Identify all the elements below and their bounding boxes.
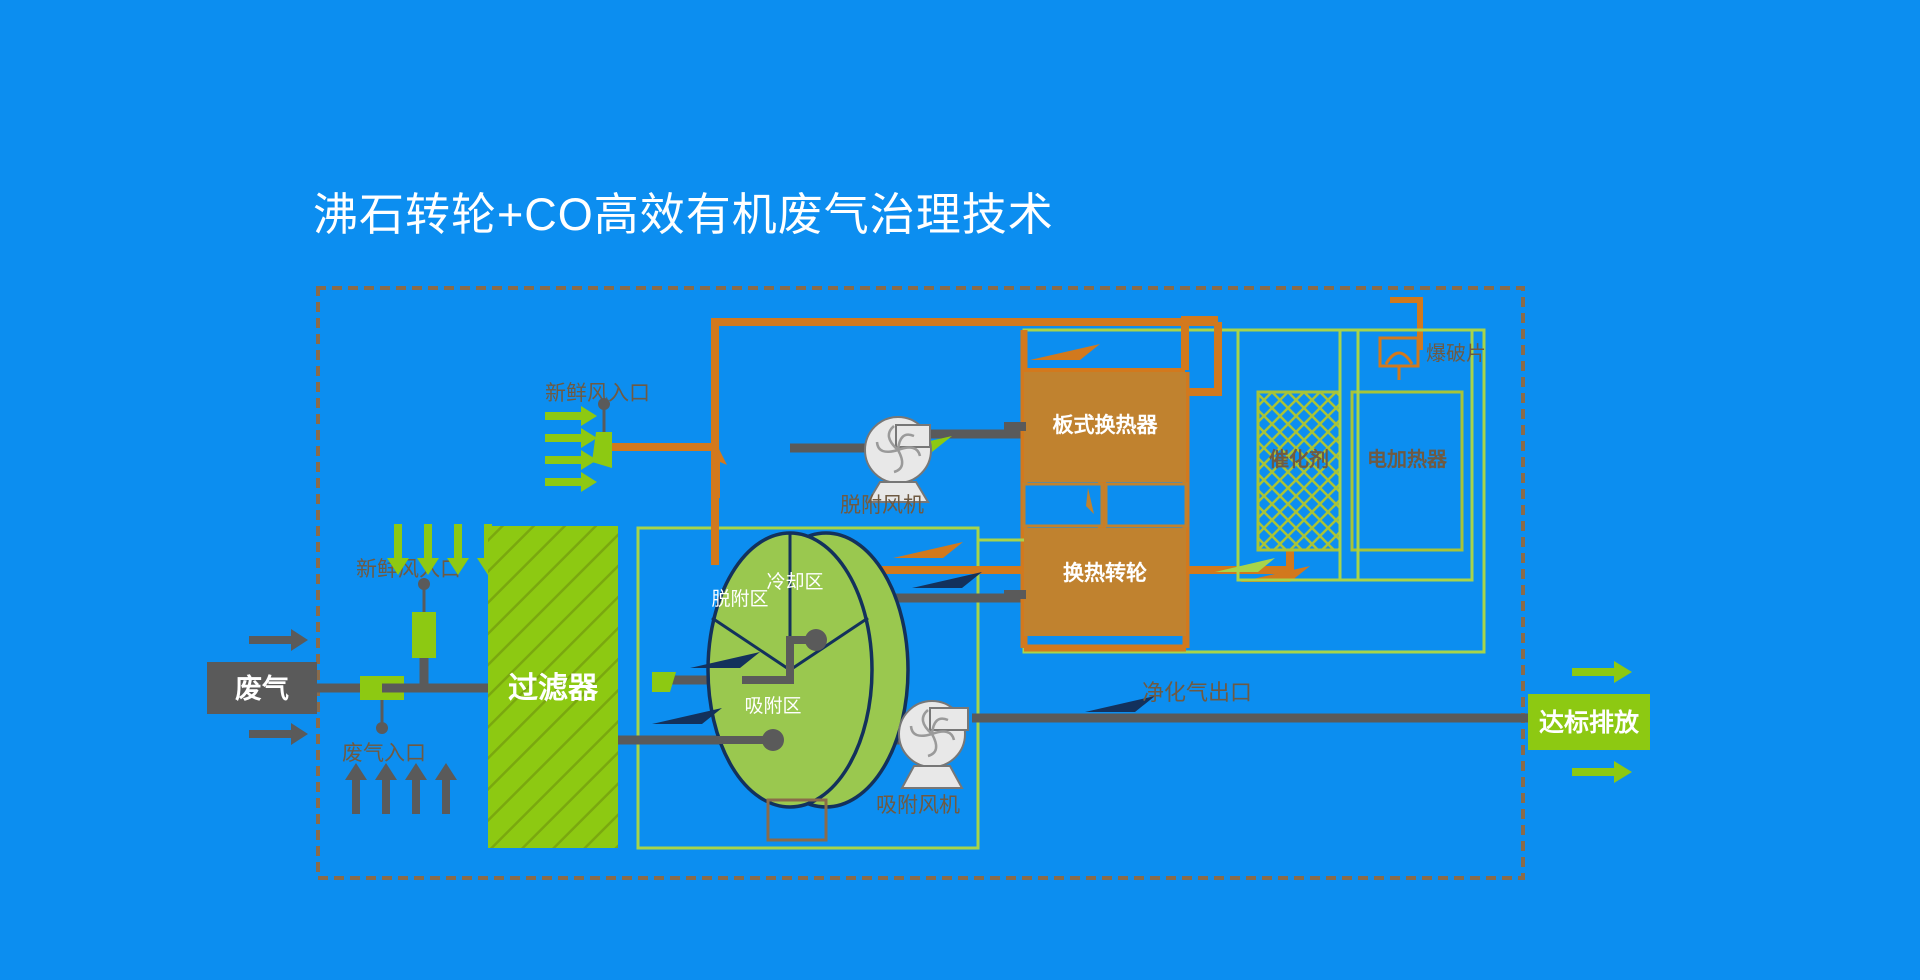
process-flow-diagram: 废气 废气入口 新鲜风入口 过滤器 [0,0,1920,980]
freshair-top-arrows [545,406,597,492]
orange-arrow-he-top [1030,344,1100,360]
rotor-stub-knob-2 [762,729,784,751]
adsorption-fan-label: 吸附风机 [876,794,960,817]
duct-freshair-orange [608,447,715,560]
rotor-left-damper [652,672,676,692]
rupture-disc-icon [1380,338,1418,380]
compliant-discharge-label: 达标排放 [1539,708,1640,737]
wastegas-valve-knob [376,722,388,734]
desorption-fan-label: 脱附风机 [840,494,924,517]
freshair-top-label: 新鲜风入口 [545,382,650,405]
adsorption-fan [899,701,968,788]
desorption-fan [865,417,931,502]
electric-heater-label: 电加热器 [1367,448,1448,471]
rotor-zone-cooling: 冷却区 [766,571,823,593]
catalyst-block [1258,392,1340,550]
wastegas-inlet-arrows [345,763,457,814]
catalyst-label: 催化剂 [1269,447,1329,471]
rotor-zone-desorption: 脱附区 [711,588,768,610]
wastegas-inlet-label: 废气入口 [342,742,426,765]
plate-heat-exchanger-label: 板式换热器 [1053,413,1159,437]
diagram-canvas: 沸石转轮+CO高效有机废气治理技术 [0,0,1920,980]
orange-arrow-rotor-out [893,542,963,558]
duct-orange-he-to-cat [1185,320,1218,370]
freshair-left-label: 新鲜风入口 [356,558,461,581]
rotor-stub-knob-1 [805,629,827,651]
freshair-left-valve [412,612,436,658]
freshair-damper-knob [598,398,610,410]
duct-orange-heater-riser [1390,300,1420,350]
rotor-zone-adsorption: 吸附区 [744,695,801,717]
purified-gas-outlet-label: 净化气出口 [1142,680,1252,705]
electric-heater-block [1352,392,1462,550]
rupture-disc-label: 爆破片 [1426,342,1486,365]
heat-exchange-rotor-label: 换热转轮 [1063,561,1147,585]
waste-gas-label: 废气 [235,673,289,704]
he-middle-right-cell [1106,484,1186,526]
filter-label: 过滤器 [508,672,599,705]
